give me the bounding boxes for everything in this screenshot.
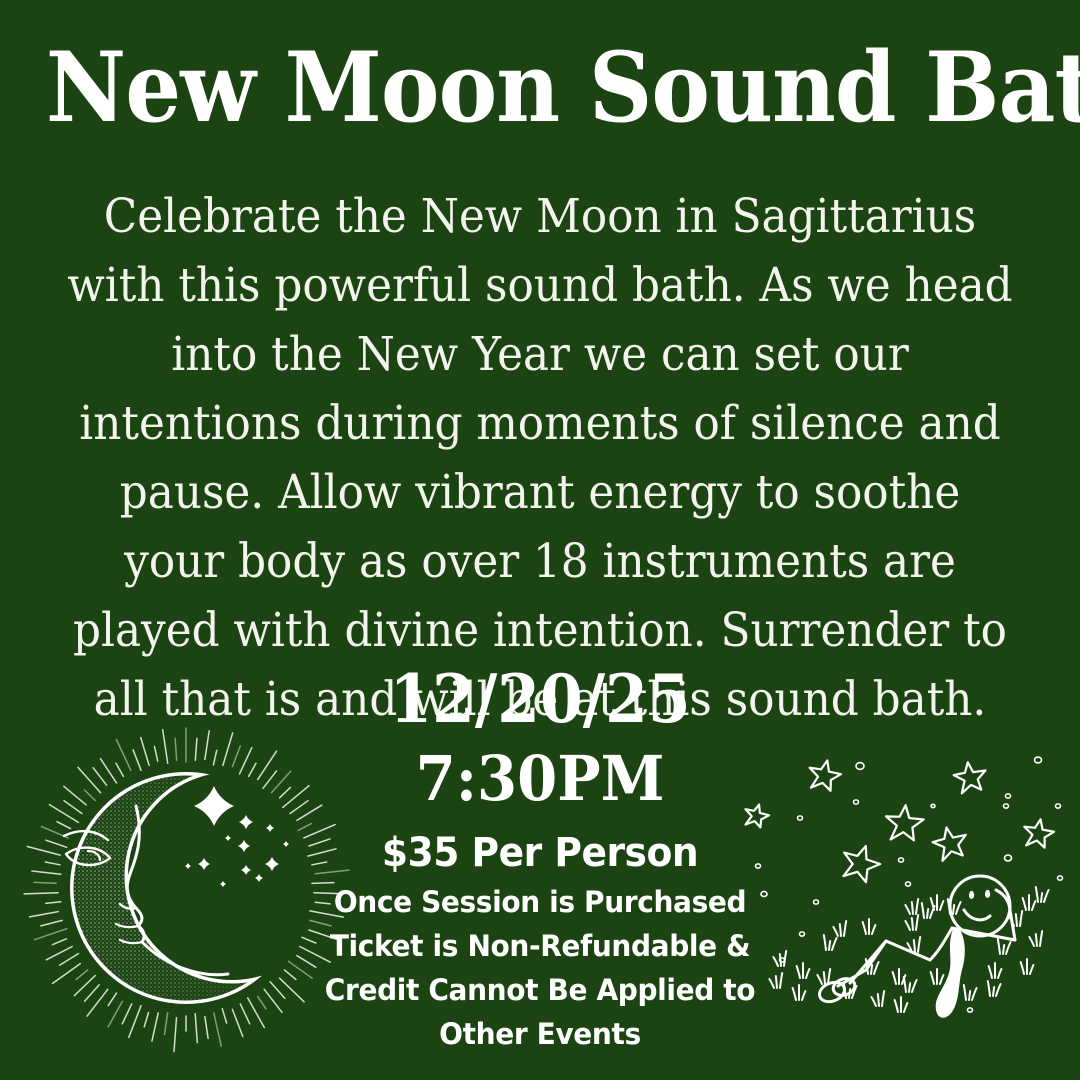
figure-hair bbox=[936, 929, 965, 1018]
stick-figure bbox=[817, 876, 1015, 1005]
event-price: $35 Per Person bbox=[314, 828, 765, 878]
page-title: New Moon Sound Bath bbox=[46, 38, 1034, 139]
event-info-block: 12/20/25 7:30PM $35 Per Person Once Sess… bbox=[300, 662, 780, 1056]
stargazer-illustration bbox=[738, 738, 1080, 1060]
tiny-circles bbox=[756, 757, 1063, 1012]
refund-policy-line-2: Ticket is Non-Refundable & bbox=[312, 924, 768, 968]
event-time: 7:30PM bbox=[317, 736, 763, 822]
doodle-stars bbox=[742, 757, 1056, 886]
refund-policy-line-4: Other Events bbox=[312, 1012, 768, 1056]
event-poster: New Moon Sound Bath Celebrate the New Mo… bbox=[0, 0, 1080, 1080]
refund-policy-line-3: Credit Cannot Be Applied to bbox=[312, 968, 768, 1012]
refund-policy-line-1: Once Session is Purchased bbox=[312, 880, 768, 924]
event-date: 12/20/25 bbox=[317, 662, 763, 736]
refund-policy: Once Session is Purchased Ticket is Non-… bbox=[312, 880, 768, 1056]
event-description: Celebrate the New Moon in Sagittarius wi… bbox=[66, 182, 1015, 734]
